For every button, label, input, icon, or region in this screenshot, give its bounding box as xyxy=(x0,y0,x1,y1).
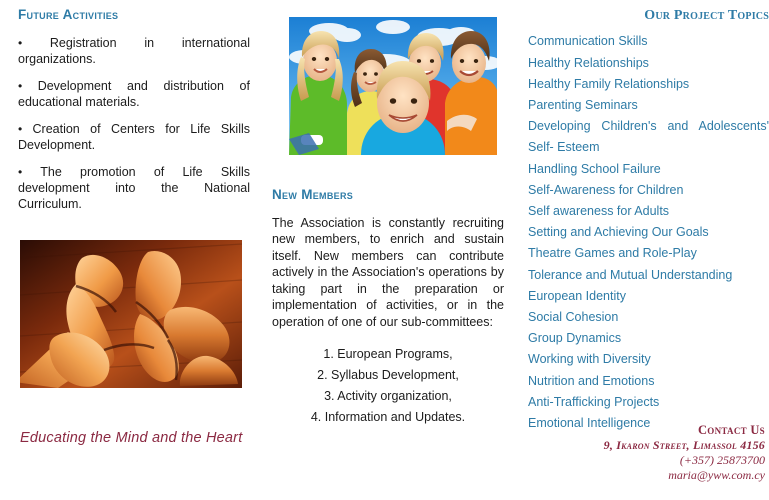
project-topics-list: Communication Skills Healthy Relationshi… xyxy=(528,31,769,434)
list-item: Handling School Failure xyxy=(528,159,769,180)
new-members-heading: New Members xyxy=(272,188,504,203)
list-item: 1. European Programs, xyxy=(272,344,504,365)
list-item: Healthy Relationships xyxy=(528,53,769,74)
future-activities-list: Registration in international organizati… xyxy=(18,35,250,212)
right-column: Our Project Topics Communication Skills … xyxy=(528,8,769,434)
list-item: Parenting Seminars xyxy=(528,95,769,116)
middle-column: New Members The Association is constantl… xyxy=(272,188,504,428)
contact-heading: Contact Us xyxy=(505,423,765,438)
project-topics-heading: Our Project Topics xyxy=(528,8,769,23)
new-members-body: The Association is constantly recruiting… xyxy=(272,215,504,331)
new-members-numbered-list: 1. European Programs, 2. Syllabus Develo… xyxy=(272,344,504,428)
list-item: Self awareness for Adults xyxy=(528,201,769,222)
list-item: Self-Awareness for Children xyxy=(528,180,769,201)
list-item: Nutrition and Emotions xyxy=(528,371,769,392)
list-item: Tolerance and Mutual Understanding xyxy=(528,265,769,286)
list-item: Registration in international organizati… xyxy=(18,35,250,67)
contact-phone[interactable]: (+357) 25873700 xyxy=(505,453,765,468)
tagline: Educating the Mind and the Heart xyxy=(20,430,242,446)
list-item: 3. Activity organization, xyxy=(272,386,504,407)
list-item: Self- Esteem xyxy=(528,137,769,158)
hands-unity-illustration xyxy=(20,240,242,388)
children-group-photo xyxy=(289,17,497,155)
list-item: The promotion of Life Skills development… xyxy=(18,164,250,212)
future-activities-heading: Future Activities xyxy=(18,8,250,23)
list-item: Anti-Trafficking Projects xyxy=(528,392,769,413)
list-item: Group Dynamics xyxy=(528,328,769,349)
list-item: European Identity xyxy=(528,286,769,307)
list-item: Communication Skills xyxy=(528,31,769,52)
contact-address: 9, Ikaron Street, Limassol 4156 xyxy=(505,438,765,453)
list-item: Theatre Games and Role-Play xyxy=(528,243,769,264)
list-item: Creation of Centers for Life Skills Deve… xyxy=(18,121,250,153)
children-group-illustration xyxy=(289,17,497,155)
list-item: Healthy Family Relationships xyxy=(528,74,769,95)
list-item: Social Cohesion xyxy=(528,307,769,328)
left-column: Future Activities Registration in intern… xyxy=(18,8,250,223)
list-item: 2. Syllabus Development, xyxy=(272,365,504,386)
list-item: Developing Children's and Adolescents' xyxy=(528,116,769,137)
list-item: Development and distribution of educatio… xyxy=(18,78,250,110)
hands-unity-photo xyxy=(20,240,242,388)
contact-email[interactable]: maria@yww.com.cy xyxy=(505,468,765,483)
list-item: Setting and Achieving Our Goals xyxy=(528,222,769,243)
list-item: 4. Information and Updates. xyxy=(272,407,504,428)
list-item: Working with Diversity xyxy=(528,349,769,370)
contact-block: Contact Us 9, Ikaron Street, Limassol 41… xyxy=(505,423,765,483)
